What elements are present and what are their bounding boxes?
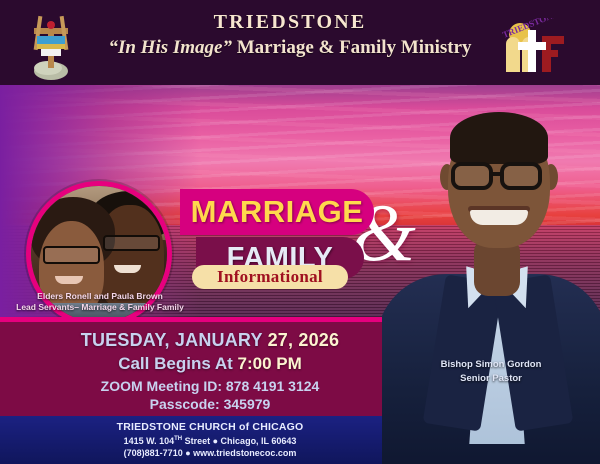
footer-address: 1415 W. 104TH Street ● Chicago, IL 60643: [0, 436, 420, 446]
ministry-tagline: “In His Image” Marriage & Family Ministr…: [90, 35, 490, 62]
event-time-prefix: Call Begins At: [118, 354, 237, 373]
triedstone-church-logo-icon: TRIEDSTONE: [498, 18, 568, 76]
marriage-banner: MARRIAGE: [180, 189, 374, 235]
header-bar: TRIEDSTONE “In His Image” Marriage & Fam…: [0, 0, 600, 85]
zoom-passcode: Passcode: 345979: [0, 396, 420, 412]
informational-banner: Informational: [192, 265, 348, 289]
zoom-meeting-id: ZOOM Meeting ID: 878 4191 3124: [0, 378, 420, 394]
tagline-rest: Marriage & Family Ministry: [232, 37, 472, 58]
cross-on-stone-icon: [24, 8, 78, 80]
bishop-caption: Bishop Simon Gordon Senior Pastor: [382, 358, 600, 386]
couple-names: Elders Ronell and Paula Brown: [0, 291, 200, 302]
bishop-name: Bishop Simon Gordon: [382, 358, 600, 372]
footer-address-prefix: 1415 W. 104: [124, 436, 175, 446]
bishop-portrait: Bishop Simon Gordon Senior Pastor: [382, 78, 600, 464]
couple-caption: Elders Ronell and Paula Brown Lead Serva…: [0, 291, 200, 314]
event-time-value: 7:00 PM: [238, 354, 302, 373]
header-title-group: TRIEDSTONE “In His Image” Marriage & Fam…: [90, 10, 490, 62]
couple-role: Lead Servants– Marriage & Family Family: [0, 302, 200, 313]
event-date-highlight: 27, 2026: [268, 330, 340, 350]
org-name: TRIEDSTONE: [90, 10, 490, 35]
footer-contact-block: TRIEDSTONE CHURCH of CHICAGO 1415 W. 104…: [0, 421, 420, 458]
event-date-text: TUESDAY, JANUARY: [81, 330, 268, 350]
tagline-quote: “In His Image”: [108, 37, 232, 58]
footer-phone-website[interactable]: (708)881-7710 ● www.triedstonecoc.com: [0, 448, 420, 458]
bishop-role: Senior Pastor: [382, 372, 600, 386]
footer-address-rest: Street ● Chicago, IL 60643: [182, 436, 296, 446]
event-date: TUESDAY, JANUARY 27, 2026: [0, 330, 420, 351]
flyer-canvas: TRIEDSTONE “In His Image” Marriage & Fam…: [0, 0, 600, 464]
event-time: Call Begins At 7:00 PM: [0, 354, 420, 374]
informational-label: Informational: [217, 267, 323, 287]
footer-church-name: TRIEDSTONE CHURCH of CHICAGO: [0, 421, 420, 433]
marriage-label: MARRIAGE: [191, 194, 364, 230]
footer-address-ordinal: TH: [174, 436, 182, 442]
